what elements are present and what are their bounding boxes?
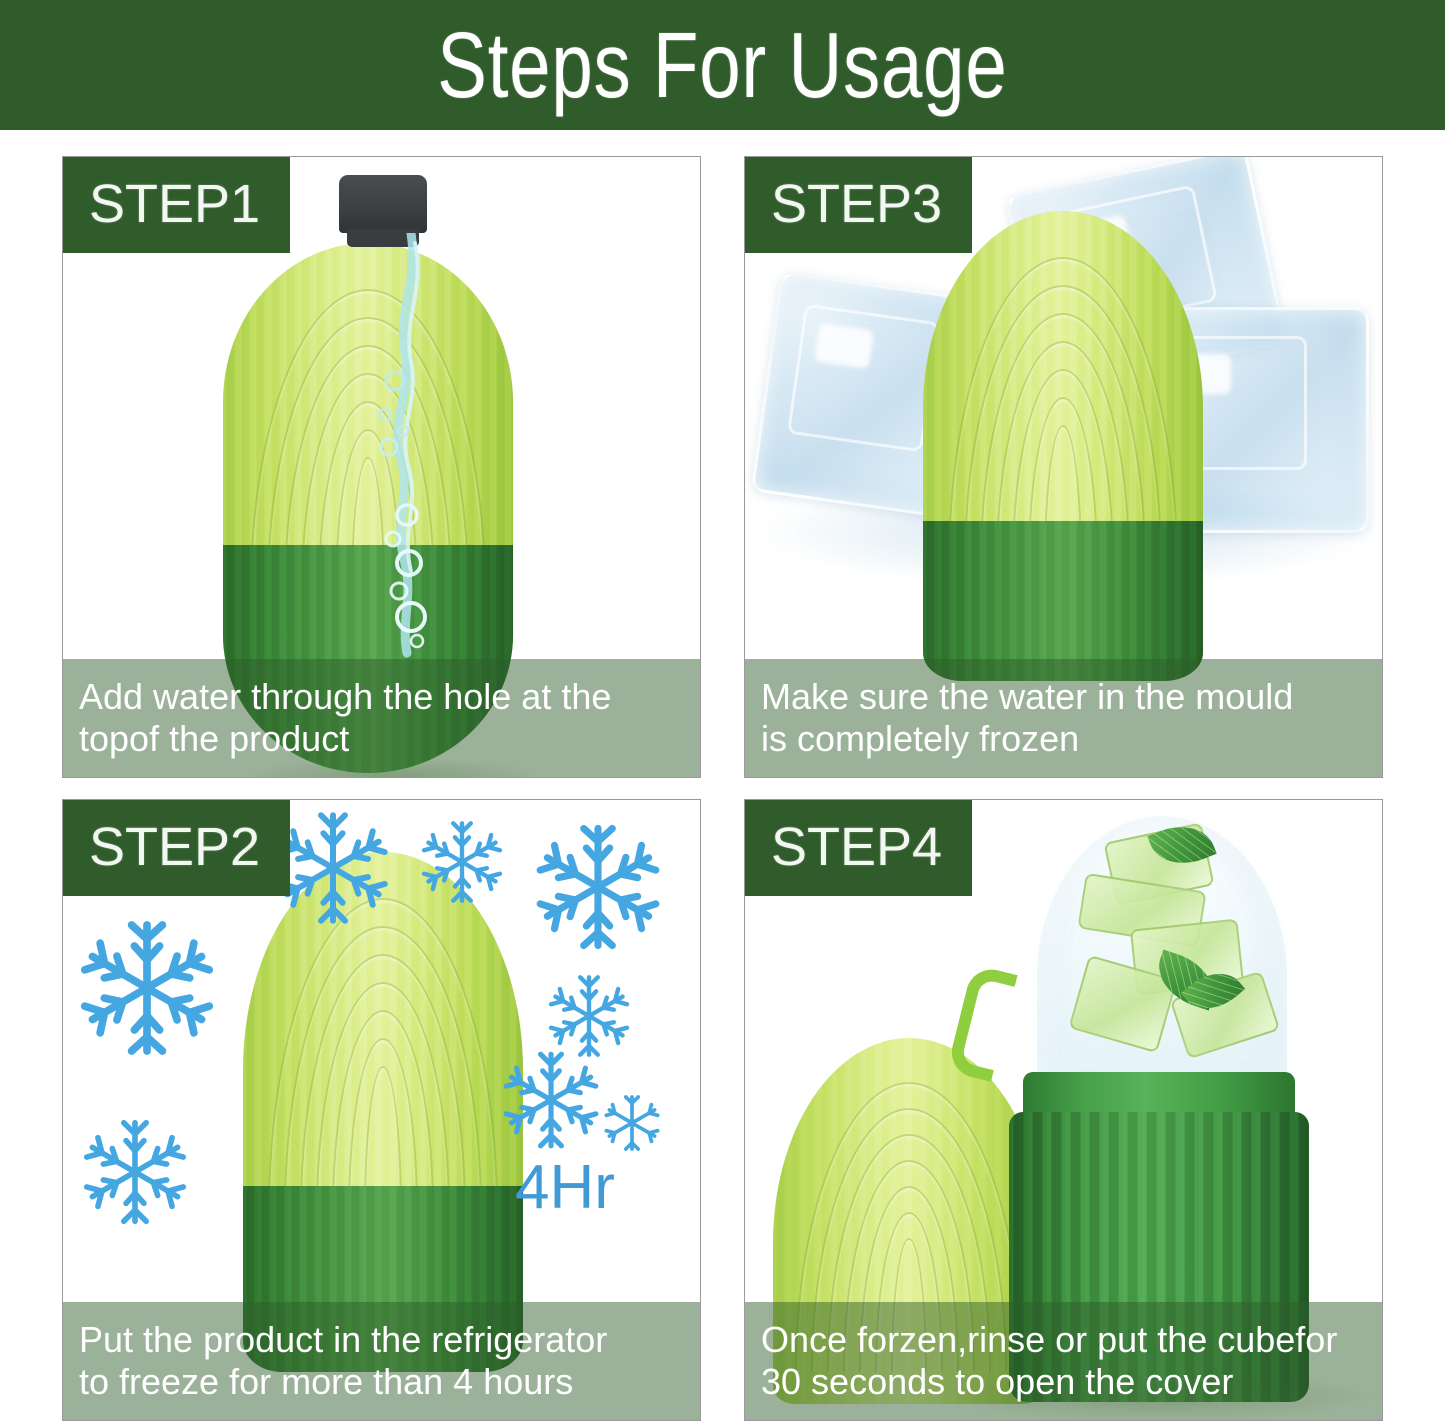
page-title: Steps For Usage [437, 19, 1007, 112]
step-caption-1-line-1: Add water through the hole at the [79, 676, 686, 718]
step-card-4[interactable]: STEP4 Once forzen,rinse or put the cubef… [744, 799, 1383, 1421]
product-body [923, 211, 1203, 681]
step-caption-2: Put the product in the refrigerator to f… [63, 1302, 700, 1420]
step-card-1[interactable]: STEP1 Add water through the hole at the … [62, 156, 701, 778]
snowflake-icon-4 [77, 918, 217, 1058]
step-card-2[interactable]: 4Hr STEP2 Put the product in the refrige… [62, 799, 701, 1421]
step-caption-4-line-1: Once forzen,rinse or put the cubefor [761, 1319, 1368, 1361]
snowflake-icon-8 [79, 1116, 191, 1228]
ice-roller-product [923, 211, 1203, 681]
page-header-banner: Steps For Usage [0, 0, 1445, 130]
ice-roller-product [243, 852, 523, 1372]
snowflake-icon-2 [418, 818, 506, 906]
snowflake-icon-6 [499, 1048, 603, 1152]
step-caption-4-line-2: 30 seconds to open the cover [761, 1361, 1368, 1403]
product-arch-ribs [943, 235, 1183, 565]
step-caption-3: Make sure the water in the mould is comp… [745, 659, 1382, 777]
step-caption-1: Add water through the hole at the topof … [63, 659, 700, 777]
step-caption-1-line-2: topof the product [79, 718, 686, 760]
snowflake-icon-7 [601, 1092, 663, 1154]
snowflake-icon-3 [533, 822, 663, 952]
step-caption-2-line-1: Put the product in the refrigerator [79, 1319, 686, 1361]
snowflake-icon-5 [545, 972, 633, 1060]
step-caption-3-line-2: is completely frozen [761, 718, 1368, 760]
snowflake-icon-1 [273, 808, 393, 928]
step-caption-3-line-1: Make sure the water in the mould [761, 676, 1368, 718]
step-badge-3: STEP3 [745, 157, 972, 253]
step-card-3[interactable]: STEP3 Make sure the water in the mould i… [744, 156, 1383, 778]
step-caption-4: Once forzen,rinse or put the cubefor 30 … [745, 1302, 1382, 1420]
bottle-cap-icon [339, 175, 427, 233]
product-dark-base [923, 521, 1203, 681]
steps-grid: STEP1 Add water through the hole at the … [62, 156, 1383, 1421]
step-caption-2-line-2: to freeze for more than 4 hours [79, 1361, 686, 1403]
frozen-ice-cube [1033, 812, 1291, 1098]
product-body [243, 852, 523, 1372]
step-badge-2: STEP2 [63, 800, 290, 896]
freeze-duration-label: 4Hr [515, 1152, 615, 1223]
step-badge-1: STEP1 [63, 157, 290, 253]
product-arch-ribs [243, 261, 493, 591]
step-badge-4: STEP4 [745, 800, 972, 896]
